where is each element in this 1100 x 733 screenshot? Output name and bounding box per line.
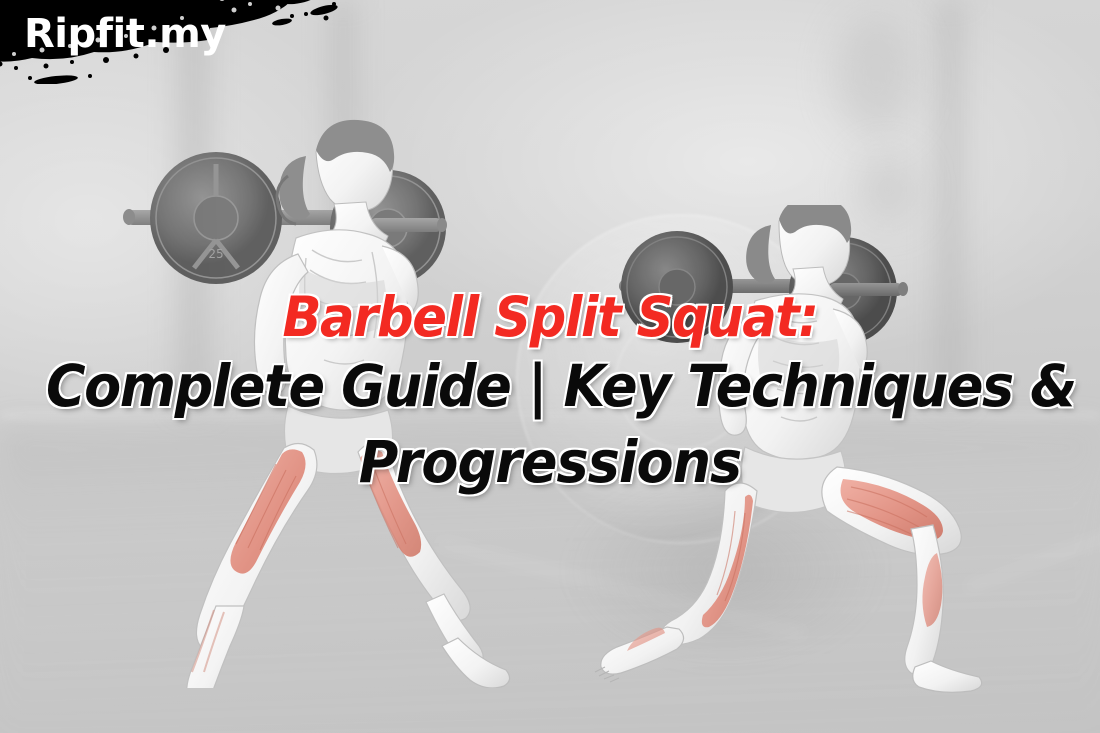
hero-title-line-1: Barbell Split Squat: <box>46 286 1054 348</box>
hero-banner: 25 <box>0 0 1100 733</box>
background-blur-blob <box>836 15 916 135</box>
brand-logo-text[interactable]: Ripfit.my <box>24 8 226 60</box>
hero-title: Barbell Split Squat: Complete Guide | Ke… <box>0 286 1100 500</box>
hero-title-line-2: Complete Guide | Key Techniques & <box>46 348 1054 424</box>
svg-text:25: 25 <box>208 247 223 261</box>
figure-back-leg-right <box>595 483 757 682</box>
hero-title-line-3: Progressions <box>46 424 1054 500</box>
figure-front-leg-right <box>822 467 982 692</box>
